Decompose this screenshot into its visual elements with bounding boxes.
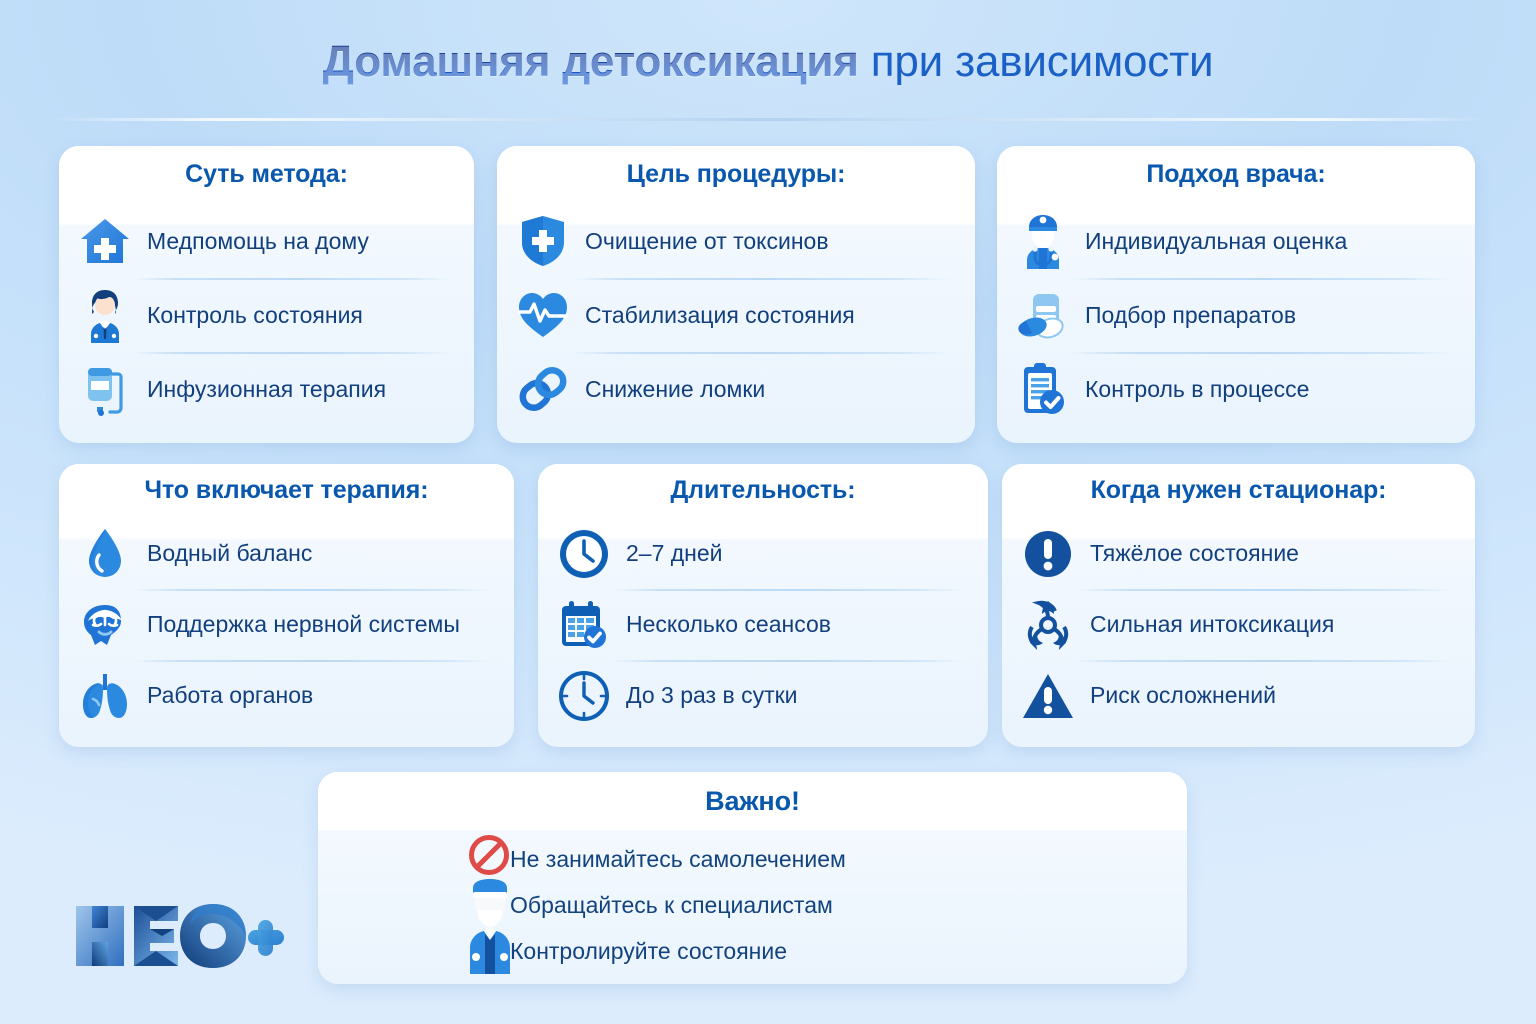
card-doctor-approach: Подход врача: [997, 146, 1475, 443]
page-title: Домашняя детоксикация при зависимости [0, 36, 1536, 88]
shield-cross-icon [515, 212, 571, 270]
card-header: Важно! [318, 772, 1187, 830]
list-item[interactable]: Контроль в процессе [1015, 352, 1457, 426]
card-header: Длительность: [538, 464, 988, 516]
list-item[interactable]: Не занимайтесь самолечением [318, 836, 1187, 882]
lungs-icon [77, 667, 133, 725]
brand-logo [72, 900, 286, 972]
list-item[interactable]: Медпомощь на дому [77, 204, 456, 278]
chain-link-icon [515, 360, 571, 418]
prohibition-icon [468, 834, 510, 876]
card-procedure-goal: Цель процедуры: Очищение от токсинов [497, 146, 975, 443]
list-item[interactable]: Снижение ломки [515, 352, 957, 426]
page-title-bold: Домашняя детоксикация [323, 37, 859, 86]
doctor-stethoscope-icon [1015, 212, 1071, 270]
list-item[interactable]: Контроль состояния [77, 278, 456, 352]
list-item-label: Индивидуальная оценка [1085, 228, 1347, 254]
list-item-label: Не занимайтесь самолечением [510, 846, 846, 873]
list-item[interactable]: Поддержка нервной системы [77, 589, 496, 660]
infographic-page: Домашняя детоксикация при зависимости Су… [0, 0, 1536, 1024]
card-body: 2–7 дней [538, 516, 988, 741]
list-item-label: Контроль состояния [147, 302, 363, 328]
clipboard-check-icon [1015, 360, 1071, 418]
list-item-label: Работа органов [147, 682, 313, 708]
exclamation-circle-icon [1020, 525, 1076, 583]
card-header-label: Суть метода: [185, 160, 348, 189]
card-header-label: Что включает терапия: [145, 476, 429, 505]
pills-icon [1015, 286, 1071, 344]
card-header: Что включает терапия: [59, 464, 514, 516]
list-item[interactable]: Риск осложнений [1020, 660, 1457, 731]
list-item[interactable]: Водный баланс [77, 518, 496, 589]
card-header-label: Важно! [705, 786, 800, 817]
list-item[interactable]: Подбор препаратов [1015, 278, 1457, 352]
list-item-label: Подбор препаратов [1085, 302, 1296, 328]
list-item-label: Контролируйте состояние [510, 938, 787, 965]
card-header-label: Цель процедуры: [627, 160, 846, 189]
list-item-label: Поддержка нервной системы [147, 611, 460, 637]
list-item[interactable]: Очищение от токсинов [515, 204, 957, 278]
list-item-label: Очищение от токсинов [585, 228, 829, 254]
card-header: Подход врача: [997, 146, 1475, 202]
card-header: Когда нужен стационар: [1002, 464, 1475, 516]
card-header: Суть метода: [59, 146, 474, 202]
water-drop-icon [77, 525, 133, 583]
list-item[interactable]: Индивидуальная оценка [1015, 204, 1457, 278]
card-body: Тяжёлое состояние [1002, 516, 1475, 741]
list-item[interactable]: Тяжёлое состояние [1020, 518, 1457, 589]
list-item[interactable]: Контролируйте состояние [318, 928, 1187, 974]
calendar-check-icon [556, 596, 612, 654]
iv-drip-icon [77, 360, 133, 418]
card-therapy-includes: Что включает терапия: Водный баланс [59, 464, 514, 747]
list-item-label: До 3 раз в сутки [626, 682, 798, 708]
list-item[interactable]: Обращайтесь к специалистам [318, 882, 1187, 928]
list-item[interactable]: Инфузионная терапия [77, 352, 456, 426]
list-item-label: Тяжёлое состояние [1090, 540, 1299, 566]
card-body: Водный баланс Поддержка нервной системы [59, 516, 514, 741]
list-item[interactable]: Сильная интоксикация [1020, 589, 1457, 660]
doctor-person-icon [77, 286, 133, 344]
list-item-label: Риск осложнений [1090, 682, 1276, 708]
card-body: Не занимайтесь самолечением Обращайтесь … [318, 830, 1187, 974]
card-important: Важно! [318, 772, 1187, 984]
title-divider [48, 118, 1488, 121]
card-header-label: Подход врача: [1146, 160, 1325, 189]
surgeon-icon [464, 878, 516, 974]
list-item-label: Несколько сеансов [626, 611, 831, 637]
card-body: Индивидуальная оценка Подбор препаратов [997, 202, 1475, 436]
card-body: Медпомощь на дому Контроль состоя [59, 202, 474, 436]
card-body: Очищение от токсинов Стабилизация состоя… [497, 202, 975, 436]
list-item-label: Водный баланс [147, 540, 312, 566]
page-title-light: при зависимости [859, 37, 1214, 86]
list-item[interactable]: Работа органов [77, 660, 496, 731]
list-item-label: Снижение ломки [585, 376, 765, 402]
card-header-label: Когда нужен стационар: [1091, 476, 1387, 505]
biohazard-icon [1020, 596, 1076, 654]
list-item-label: Сильная интоксикация [1090, 611, 1334, 637]
list-item-label: Контроль в процессе [1085, 376, 1309, 402]
brain-icon [77, 596, 133, 654]
card-header: Цель процедуры: [497, 146, 975, 202]
list-item[interactable]: До 3 раз в сутки [556, 660, 970, 731]
clock-outline-icon [556, 667, 612, 725]
card-when-hospital: Когда нужен стационар: Тяжёлое состояние [1002, 464, 1475, 747]
list-item[interactable]: Несколько сеансов [556, 589, 970, 660]
card-method-essence: Суть метода: Медпомощь на дому [59, 146, 474, 443]
list-item-label: 2–7 дней [626, 540, 723, 566]
list-item-label: Стабилизация состояния [585, 302, 855, 328]
list-item-label: Обращайтесь к специалистам [510, 892, 833, 919]
card-duration: Длительность: 2–7 дней [538, 464, 988, 747]
warning-triangle-icon [1020, 667, 1076, 725]
heart-pulse-icon [515, 286, 571, 344]
list-item[interactable]: 2–7 дней [556, 518, 970, 589]
clock-filled-icon [556, 525, 612, 583]
list-item[interactable]: Стабилизация состояния [515, 278, 957, 352]
neo-plus-logo-icon [72, 900, 286, 972]
list-item-label: Инфузионная терапия [147, 376, 386, 402]
card-header-label: Длительность: [670, 476, 855, 505]
house-cross-icon [77, 212, 133, 270]
list-item-label: Медпомощь на дому [147, 228, 369, 254]
